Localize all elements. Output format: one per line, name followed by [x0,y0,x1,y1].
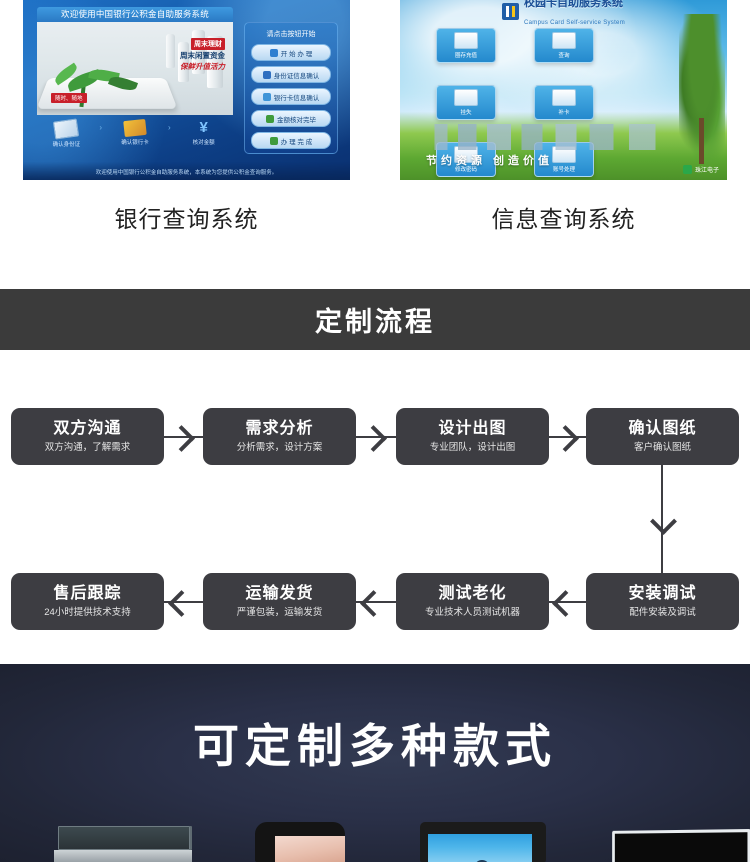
bank-footer-text: 欢迎使用中国银行公积金自助服务系统，本系统为您提供公积金查询服务。 [23,162,350,180]
bank-button-label: 银行卡信息确认 [274,92,320,102]
chevron-down-icon [650,508,677,535]
flow-step-desc: 分析需求，设计方案 [237,441,323,455]
flow-step-title: 设计出图 [438,419,506,439]
campus-tile-query[interactable]: 查询 [534,28,594,63]
styles-section: 可定制多种款式 [0,664,750,862]
bank-system-screenshot: 欢迎使用中国银行公积金自助服务系统 周末理财 周末闲置资金 保鲜升值活 [23,0,350,180]
flow-step-title: 双方沟通 [53,419,121,439]
brand-label: 珠江电子 [695,165,719,174]
poster-chip: 随时、随地 [51,93,87,103]
campus-tile-label: 补卡 [535,108,593,116]
bank-button-label: 身份证信息确认 [274,70,320,80]
chevron-left-icon [552,590,579,617]
bank-step-3: ¥ 核对金额 [174,120,233,146]
campus-brand: 珠江电子 [683,165,719,174]
chevron-right-icon [360,425,387,452]
flow-step-title: 售后跟踪 [53,584,121,604]
brand-mark-icon [683,165,692,174]
bank-amount-confirm-button[interactable]: 金额核对完毕 [251,110,331,127]
flow-step-title: 测试老化 [438,584,506,604]
caption-bank-system: 银行查询系统 [23,200,350,234]
campus-kiosk-screen: 校园卡自助服务系统 Campus Card Self-service Syste… [400,0,727,180]
bank-step-label: 确认身份证 [53,142,81,148]
chevron-left-icon [360,590,387,617]
bank-step-2: 确认银行卡 [106,120,165,146]
kiosk-screen [58,826,190,850]
poster-line-2: 保鲜升值活力 [180,61,225,72]
flow-step-communication: 双方沟通 双方沟通，了解需求 [11,408,164,465]
bank-step-1: 确认身份证 [37,120,96,148]
chevron-right-icon: › [96,120,106,136]
tree-graphic [679,14,725,164]
product-rounded-portrait-kiosk [245,820,355,862]
campus-tile-label: 查询 [535,51,593,59]
search-card-icon [552,32,576,49]
chevron-right-icon: › [164,120,174,136]
bank-card-icon [123,119,147,137]
new-card-icon [552,89,576,106]
bank-step-label: 确认银行卡 [121,140,149,146]
campus-system-screenshot: 校园卡自助服务系统 Campus Card Self-service Syste… [400,0,727,180]
process-banner-title: 定制流程 [315,300,435,339]
campus-tile-recharge[interactable]: 圈存充值 [436,28,496,63]
poster-tag: 周末理财 [191,38,225,50]
bank-start-button[interactable]: 开 始 办 理 [251,44,331,61]
bank-card-confirm-button[interactable]: 银行卡信息确认 [251,88,331,105]
money-stack-icon [454,32,478,49]
flow-step-desc: 专业技术人员测试机器 [425,606,520,620]
lock-card-icon [454,89,478,106]
bank-finish-button[interactable]: 办 理 完 成 [251,132,331,149]
flow-step-title: 运输发货 [245,584,313,604]
flow-step-requirement-analysis: 需求分析 分析需求，设计方案 [203,408,356,465]
campus-title-block: 校园卡自助服务系统 Campus Card Self-service Syste… [524,0,625,29]
kiosk-screen [275,836,345,862]
bank-button-label: 金额核对完毕 [277,114,316,124]
power-icon [270,49,278,57]
bank-screen-title: 欢迎使用中国银行公积金自助服务系统 [37,7,233,22]
process-flow-chart: 双方沟通 双方沟通，了解需求 需求分析 分析需求，设计方案 设计出图 专业团队，… [0,350,750,664]
kiosk-body [420,822,546,862]
flow-step-installation: 安装调试 配件安装及调试 [586,573,739,630]
flow-step-confirm-drawing: 确认图纸 客户确认图纸 [586,408,739,465]
bank-step-row: 确认身份证 › 确认银行卡 › ¥ 核对金额 [37,120,233,154]
bank-poster: 周末理财 周末闲置资金 保鲜升值活力 随时、随地 [37,22,233,115]
product-detail-page: 欢迎使用中国银行公积金自助服务系统 周末理财 周末闲置资金 保鲜升值活 [0,0,750,862]
yen-icon: ¥ [193,120,215,136]
flow-step-desc: 双方沟通，了解需求 [45,441,131,455]
campus-tile-label: 挂失 [437,108,495,116]
check-money-icon [266,115,274,123]
flow-step-shipping: 运输发货 严谨包装，运输发货 [203,573,356,630]
chevron-right-icon [168,425,195,452]
person-icon [263,71,271,79]
flow-step-after-sales: 售后跟踪 24小时提供技术支持 [11,573,164,630]
product-tablet-kiosk [420,820,556,862]
campus-tile-label: 圈存充值 [437,51,495,59]
process-banner: 定制流程 [0,289,750,350]
campus-tile-replace-card[interactable]: 补卡 [534,85,594,120]
bank-button-panel: 请点击按钮开始 开 始 办 理 身份证信息确认 银行卡信息确认 [244,22,338,154]
flow-step-title: 确认图纸 [628,419,696,439]
bank-id-confirm-button[interactable]: 身份证信息确认 [251,66,331,83]
campus-title-cn: 校园卡自助服务系统 [524,0,623,9]
flow-step-design-drawing: 设计出图 专业团队，设计出图 [396,408,549,465]
product-wide-counter-kiosk [50,820,198,862]
flow-step-desc: 配件安装及调试 [629,606,696,620]
campus-logo-icon [502,3,519,20]
check-icon [270,137,278,145]
flow-step-testing: 测试老化 专业技术人员测试机器 [396,573,549,630]
city-skyline-graphic [424,124,687,150]
kiosk-body [255,822,345,862]
kiosk-screen [428,834,532,862]
styles-section-title: 可定制多种款式 [0,710,750,776]
flow-step-desc: 24小时提供技术支持 [44,606,131,620]
bank-panel-heading: 请点击按钮开始 [245,29,337,39]
bottle-icon [166,34,175,68]
bank-kiosk-screen: 欢迎使用中国银行公积金自助服务系统 周末理财 周末闲置资金 保鲜升值活 [23,0,350,180]
bank-step-label: 核对金额 [193,140,215,146]
card-icon [263,93,271,101]
kiosk-base [54,850,192,862]
chevron-right-icon [552,425,579,452]
campus-header: 校园卡自助服务系统 Campus Card Self-service Syste… [400,0,727,22]
flow-step-title: 安装调试 [628,584,696,604]
flow-step-title: 需求分析 [245,419,313,439]
campus-slogan: 节约资源 创造价值 [426,152,553,168]
campus-title-en: Campus Card Self-service System [524,20,625,26]
id-card-icon [53,118,79,139]
showcase-section: 欢迎使用中国银行公积金自助服务系统 周末理财 周末闲置资金 保鲜升值活 [0,0,750,289]
campus-tile-report-loss[interactable]: 挂失 [436,85,496,120]
bank-button-label: 开 始 办 理 [281,48,312,58]
flow-step-desc: 专业团队，设计出图 [430,441,516,455]
product-large-display-kiosk [600,820,750,862]
poster-text: 周末闲置资金 保鲜升值活力 [180,50,225,72]
flow-step-desc: 严谨包装，运输发货 [237,606,323,620]
chevron-left-icon [168,590,195,617]
flow-step-desc: 客户确认图纸 [634,441,691,455]
bank-button-label: 办 理 完 成 [281,136,312,146]
caption-info-system: 信息查询系统 [400,200,727,234]
kiosk-display-panel [612,829,750,862]
poster-line-1: 周末闲置资金 [180,50,225,61]
